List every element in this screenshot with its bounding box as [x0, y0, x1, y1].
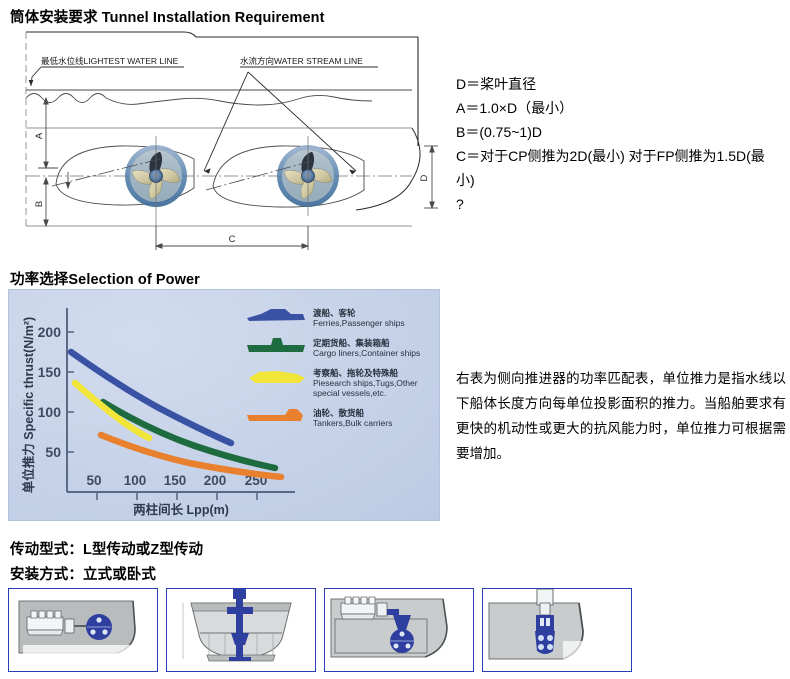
svg-text:100: 100	[124, 473, 147, 488]
thruster-unit-icon	[86, 614, 112, 640]
legend-label-cn: 定期货船、集装箱船	[312, 338, 390, 348]
install-photo-horizontal-engine[interactable]	[8, 588, 158, 672]
dimension-label-b: B	[34, 201, 45, 207]
ship-silhouette-icon	[249, 371, 305, 383]
install-photo-bevel-drive-thruster[interactable]	[324, 588, 474, 672]
page-title-tunnel-installation: 筒体安装要求 Tunnel Installation Requirement	[10, 6, 325, 27]
chart-series-research	[75, 383, 149, 438]
legend-label-en-2: special vessels,etc.	[313, 388, 386, 398]
specific-thrust-chart: 200 150 100 50 50 100 150 200 250 单位推力 S…	[8, 289, 440, 521]
drive-type-line: 传动型式：L型传动或Z型传动	[10, 538, 203, 559]
dimension-label-d: D	[419, 174, 430, 181]
formula-unknown: ?	[456, 192, 782, 216]
legend-item-research: 考察船、拖轮及特殊船 Piesearch ships,Tugs,Other sp…	[249, 368, 418, 398]
legend-label-en: Piesearch ships,Tugs,Other	[313, 378, 418, 388]
legend-label-cn: 油轮、散货船	[313, 408, 365, 418]
legend-label-en: Cargo liners,Container ships	[313, 348, 420, 358]
install-photo-vertical-shaft-section[interactable]	[166, 588, 316, 672]
label-water-stream-line: 水流方向WATER STREAM LINE	[240, 56, 363, 66]
page-title-selection-of-power: 功率选择Selection of Power	[10, 268, 200, 289]
chart-y-tick-labels: 200 150 100 50	[38, 324, 62, 460]
chart-legend: 渡船、客轮 Ferries,Passenger ships 定期货船、集装箱船 …	[247, 308, 420, 428]
formula-a: A＝1.0×D（最小）	[456, 96, 782, 120]
legend-label-cn: 考察船、拖轮及特殊船	[313, 368, 399, 378]
svg-text:150: 150	[38, 364, 62, 380]
ship-silhouette-icon	[247, 309, 305, 321]
ship-silhouette-icon	[247, 338, 305, 352]
legend-item-cargo: 定期货船、集装箱船 Cargo liners,Container ships	[247, 338, 420, 358]
formula-c: C＝对于CP侧推为2D(最小) 对于FP侧推为1.5D(最小)	[456, 144, 782, 192]
chart-y-axis-title: 单位推力 Specific thrust(N/m²)	[21, 317, 36, 493]
mounting-type-line: 安装方式：立式或卧式	[10, 563, 156, 584]
legend-item-tankers: 油轮、散货船 Tankers,Bulk carriers	[247, 408, 392, 428]
chart-svg: 200 150 100 50 50 100 150 200 250 单位推力 S…	[9, 290, 439, 520]
chart-x-tick-labels: 50 100 150 200 250	[86, 473, 267, 488]
chart-series-cargo	[103, 402, 275, 468]
svg-text:200: 200	[38, 324, 62, 340]
formula-b: B＝(0.75~1)D	[456, 120, 782, 144]
dimension-label-a: A	[34, 132, 45, 139]
legend-label-cn: 渡船、客轮	[313, 308, 356, 318]
formula-d: D＝桨叶直径	[456, 72, 782, 96]
svg-text:100: 100	[38, 404, 62, 420]
legend-item-ferries: 渡船、客轮 Ferries,Passenger ships	[247, 308, 405, 328]
svg-text:200: 200	[204, 473, 227, 488]
chart-x-axis-title: 两柱间长 Lpp(m)	[133, 502, 229, 517]
svg-text:50: 50	[45, 444, 61, 460]
power-selection-note: 右表为侧向推进器的功率匹配表，单位推力是指水线以下船体长度方向每单位投影面积的推…	[456, 366, 786, 466]
chart-x-ticks	[97, 492, 257, 500]
vertical-thruster-icon	[535, 589, 555, 654]
svg-text:50: 50	[86, 473, 101, 488]
legend-label-en: Tankers,Bulk carriers	[313, 418, 392, 428]
ship-silhouette-icon	[247, 409, 303, 421]
tunnel-formula-list: D＝桨叶直径 A＝1.0×D（最小） B＝(0.75~1)D C＝对于CP侧推为…	[456, 72, 782, 216]
installation-gallery	[8, 588, 782, 672]
label-lightest-water-line: 最低水位线LIGHTEST WATER LINE	[41, 56, 179, 66]
dimension-label-c: C	[229, 234, 236, 245]
legend-label-en: Ferries,Passenger ships	[313, 318, 405, 328]
install-photo-vertical-mounted-bow[interactable]	[482, 588, 632, 672]
svg-text:150: 150	[164, 473, 187, 488]
tunnel-installation-diagram: 最低水位线LIGHTEST WATER LINE 水流方向WATER STREA…	[8, 28, 440, 256]
